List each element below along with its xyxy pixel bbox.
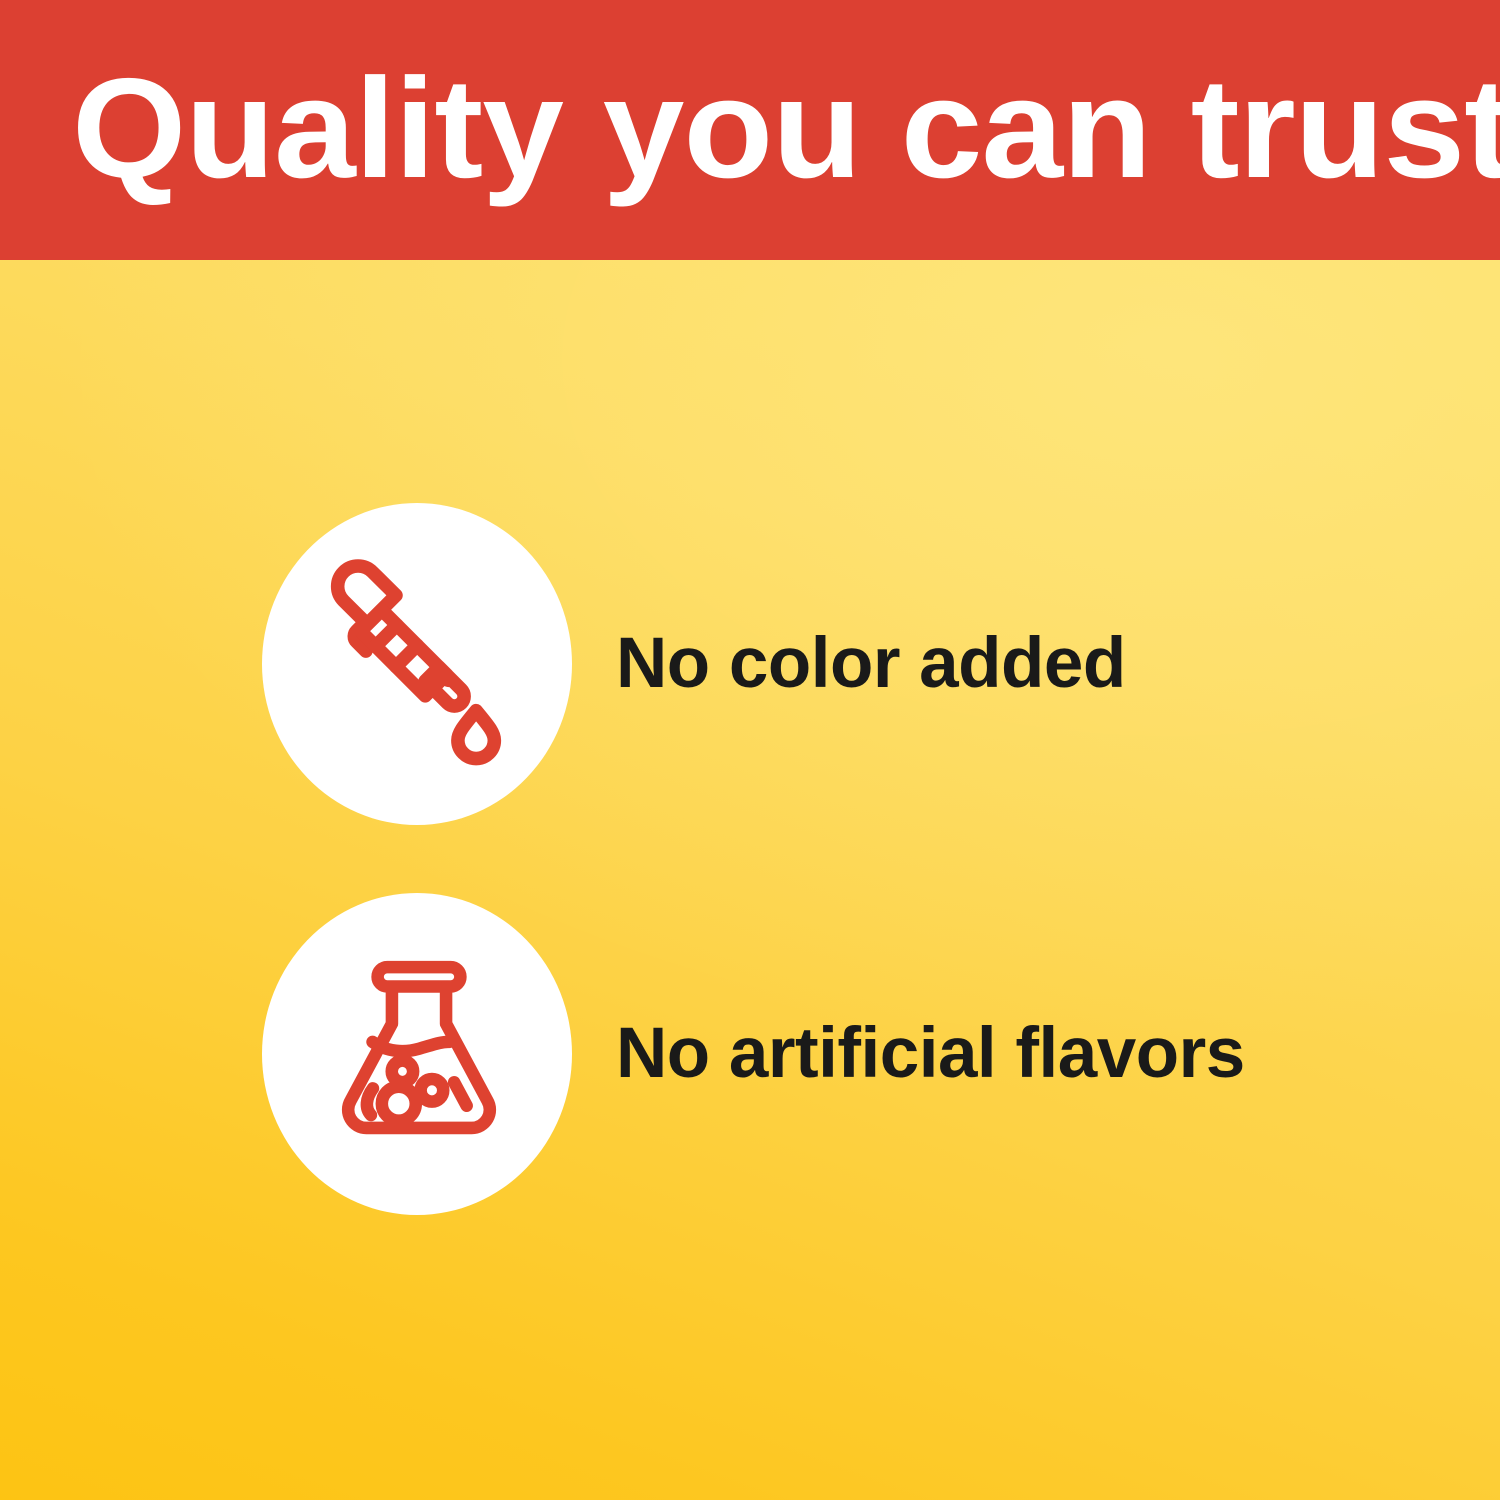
feature-list: No color added [0,260,1500,1500]
header-banner: Quality you can trust [0,0,1500,260]
icon-badge [262,893,572,1215]
icon-badge [262,503,572,825]
list-item: No artificial flavors [0,893,1500,1215]
eyedropper-icon [315,553,527,775]
product-claims-graphic: Quality you can trust [0,0,1500,1500]
page-title: Quality you can trust [72,54,1500,204]
flask-icon [318,948,520,1160]
feature-label: No artificial flavors [616,1016,1245,1092]
feature-label: No color added [616,626,1126,702]
list-item: No color added [0,503,1500,825]
